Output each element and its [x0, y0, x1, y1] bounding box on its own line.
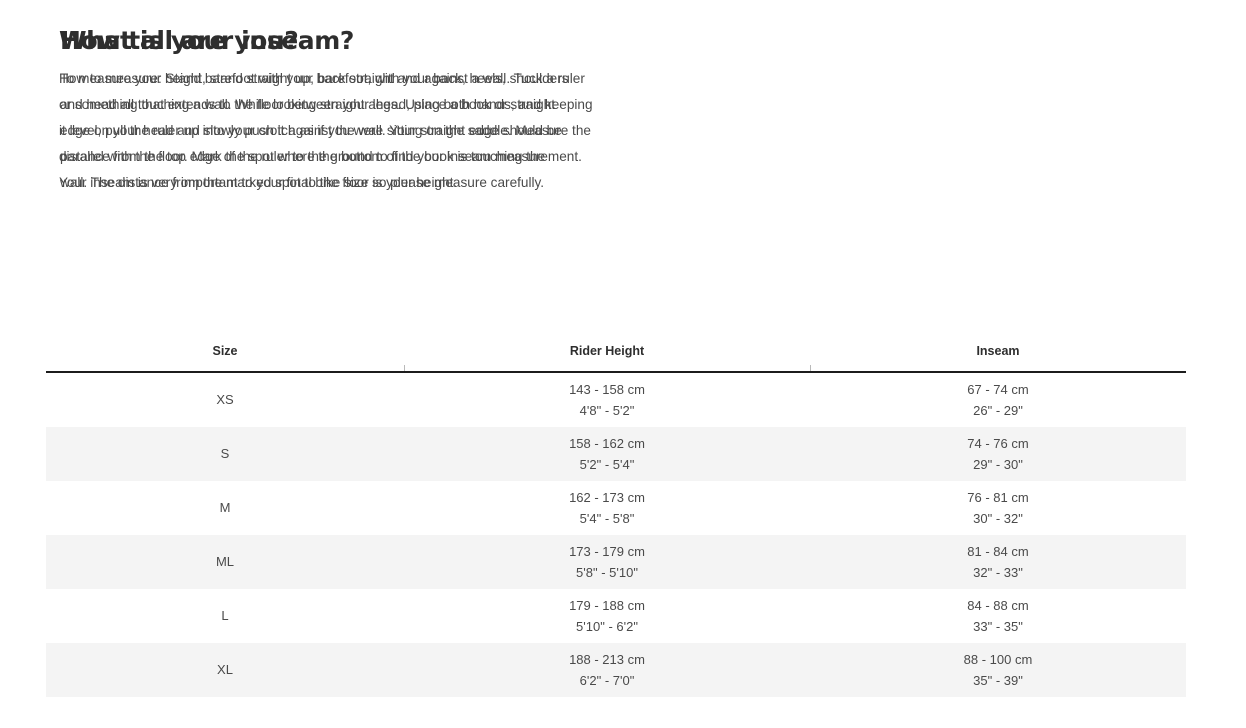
- cell-size: XS: [46, 372, 404, 427]
- column-header-size: Size: [46, 344, 404, 372]
- cell-rider-height: 179 - 188 cm5'10" - 6'2": [404, 589, 810, 643]
- size-chart: Size Rider Height Inseam XS143 - 158 cm4…: [46, 344, 1186, 697]
- inseam-imperial: 33" - 35": [810, 616, 1186, 638]
- size-chart-body: XS143 - 158 cm4'8" - 5'2"67 - 74 cm26" -…: [46, 372, 1186, 697]
- inseam-metric: 81 - 84 cm: [810, 541, 1186, 563]
- cell-size: XL: [46, 643, 404, 697]
- inseam-metric: 76 - 81 cm: [810, 487, 1186, 509]
- rider-height-metric: 158 - 162 cm: [404, 433, 810, 455]
- inseam-metric: 74 - 76 cm: [810, 433, 1186, 455]
- cell-inseam: 88 - 100 cm35" - 39": [810, 643, 1186, 697]
- inseam-metric: 84 - 88 cm: [810, 595, 1186, 617]
- measurement-instructions: How tall are you? To measure your height…: [0, 0, 1246, 196]
- inseam-section-heading: What is your inseam?: [59, 26, 600, 56]
- rider-height-metric: 162 - 173 cm: [404, 487, 810, 509]
- rider-height-imperial: 5'10" - 6'2": [404, 616, 810, 638]
- column-header-inseam: Inseam: [810, 344, 1186, 372]
- inseam-imperial: 26" - 29": [810, 400, 1186, 422]
- inseam-imperial: 32" - 33": [810, 562, 1186, 584]
- cell-size: L: [46, 589, 404, 643]
- cell-inseam: 76 - 81 cm30" - 32": [810, 481, 1186, 535]
- table-row: L179 - 188 cm5'10" - 6'2"84 - 88 cm33" -…: [46, 589, 1186, 643]
- cell-inseam: 84 - 88 cm33" - 35": [810, 589, 1186, 643]
- rider-height-metric: 179 - 188 cm: [404, 595, 810, 617]
- rider-height-imperial: 6'2" - 7'0": [404, 670, 810, 692]
- rider-height-metric: 173 - 179 cm: [404, 541, 810, 563]
- rider-height-imperial: 5'8" - 5'10": [404, 562, 810, 584]
- cell-inseam: 81 - 84 cm32" - 33": [810, 535, 1186, 589]
- table-row: XL188 - 213 cm6'2" - 7'0"88 - 100 cm35" …: [46, 643, 1186, 697]
- rider-height-imperial: 5'4" - 5'8": [404, 508, 810, 530]
- cell-rider-height: 158 - 162 cm5'2" - 5'4": [404, 427, 810, 481]
- table-header-row: Size Rider Height Inseam: [46, 344, 1186, 372]
- inseam-metric: 88 - 100 cm: [810, 649, 1186, 671]
- cell-size: S: [46, 427, 404, 481]
- cell-rider-height: 143 - 158 cm4'8" - 5'2": [404, 372, 810, 427]
- rider-height-imperial: 5'2" - 5'4": [404, 454, 810, 476]
- cell-inseam: 74 - 76 cm29" - 30": [810, 427, 1186, 481]
- table-row: S158 - 162 cm5'2" - 5'4"74 - 76 cm29" - …: [46, 427, 1186, 481]
- inseam-metric: 67 - 74 cm: [810, 379, 1186, 401]
- inseam-section-body: How to measure: Stand barefoot with your…: [59, 66, 599, 196]
- size-chart-header: Size Rider Height Inseam: [46, 344, 1186, 372]
- inseam-instructions-column: What is your inseam? How to measure: Sta…: [0, 0, 660, 196]
- size-chart-table: Size Rider Height Inseam XS143 - 158 cm4…: [46, 344, 1186, 697]
- column-header-rider-height: Rider Height: [404, 344, 810, 372]
- table-row: XS143 - 158 cm4'8" - 5'2"67 - 74 cm26" -…: [46, 372, 1186, 427]
- rider-height-imperial: 4'8" - 5'2": [404, 400, 810, 422]
- inseam-imperial: 30" - 32": [810, 508, 1186, 530]
- cell-rider-height: 162 - 173 cm5'4" - 5'8": [404, 481, 810, 535]
- inseam-imperial: 29" - 30": [810, 454, 1186, 476]
- cell-size: ML: [46, 535, 404, 589]
- rider-height-metric: 143 - 158 cm: [404, 379, 810, 401]
- cell-inseam: 67 - 74 cm26" - 29": [810, 372, 1186, 427]
- table-row: M162 - 173 cm5'4" - 5'8"76 - 81 cm30" - …: [46, 481, 1186, 535]
- rider-height-metric: 188 - 213 cm: [404, 649, 810, 671]
- table-row: ML173 - 179 cm5'8" - 5'10"81 - 84 cm32" …: [46, 535, 1186, 589]
- cell-size: M: [46, 481, 404, 535]
- cell-rider-height: 188 - 213 cm6'2" - 7'0": [404, 643, 810, 697]
- cell-rider-height: 173 - 179 cm5'8" - 5'10": [404, 535, 810, 589]
- inseam-imperial: 35" - 39": [810, 670, 1186, 692]
